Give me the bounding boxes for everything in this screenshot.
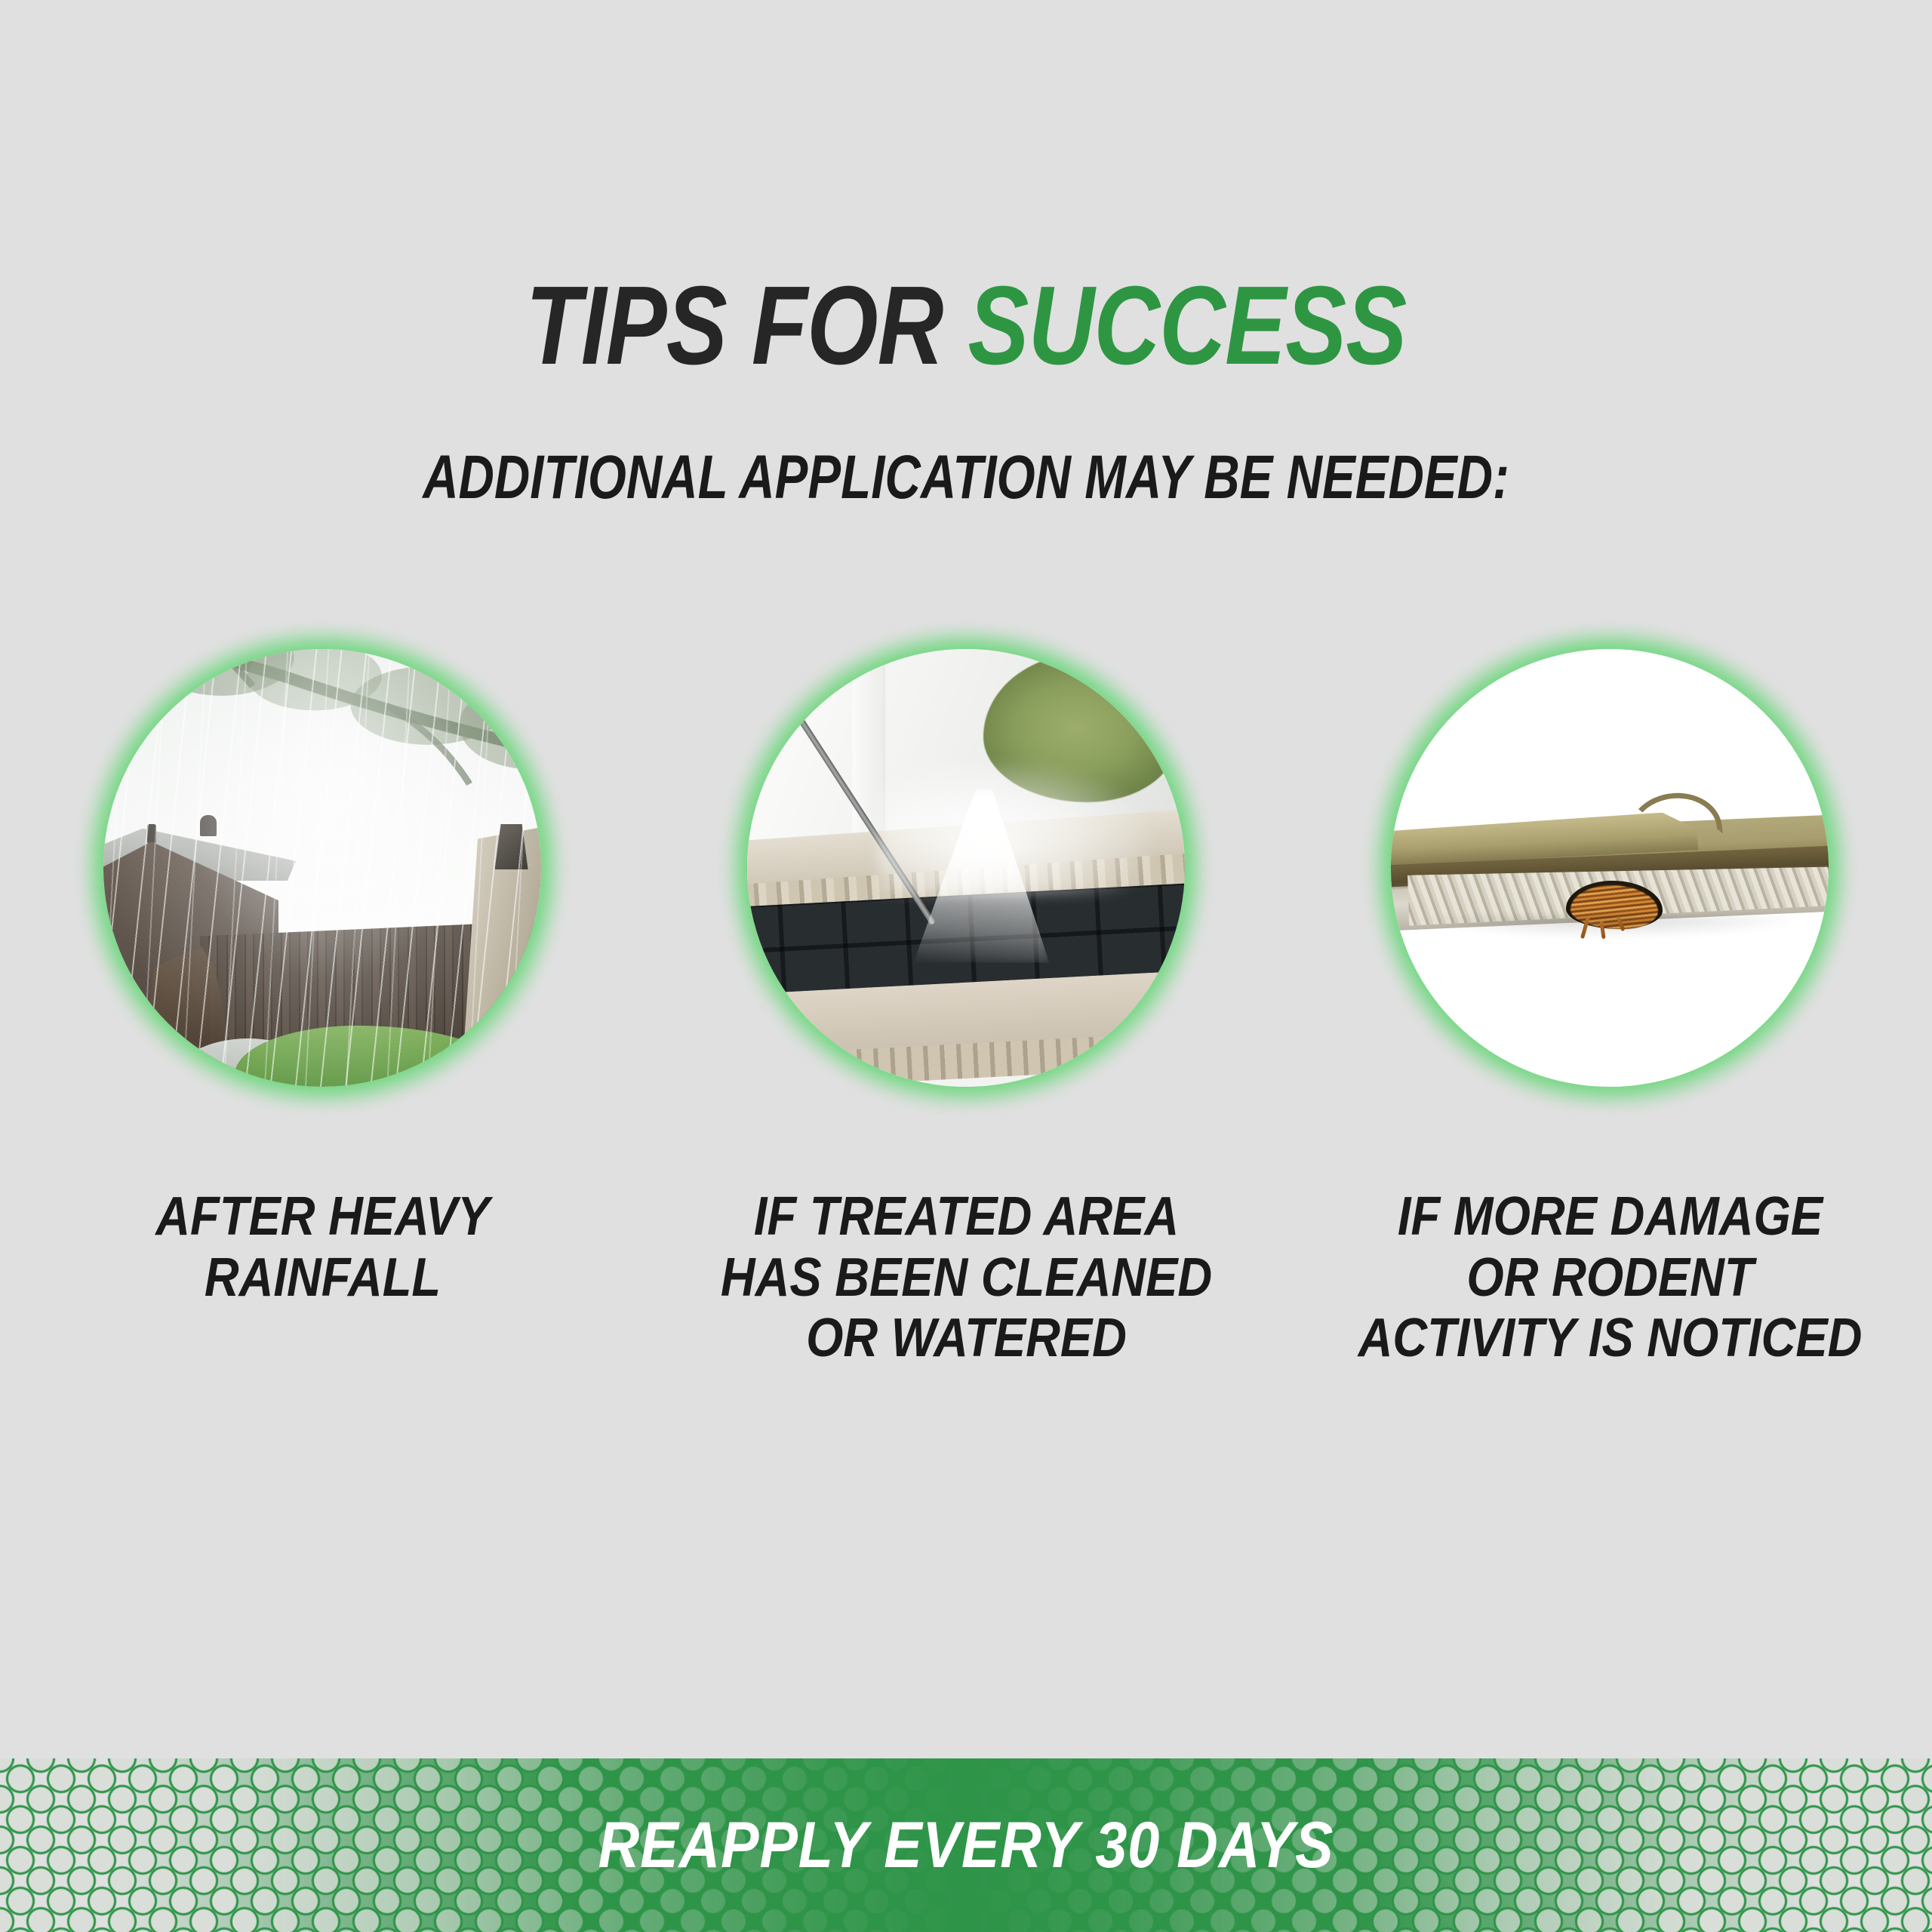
- caption-line: RAINFALL: [39, 1247, 606, 1309]
- page-title: TIPS FOR SUCCESS: [174, 270, 1758, 382]
- caption-line: IF TREATED AREA: [683, 1186, 1250, 1247]
- water-mist: [878, 763, 1150, 894]
- caption-damage: IF MORE DAMAGE OR RODENT ACTIVITY IS NOT…: [1327, 1186, 1894, 1369]
- pressure-washing-stone-steps-photo: [747, 649, 1185, 1087]
- caption-line: IF MORE DAMAGE: [1327, 1186, 1894, 1247]
- caption-line: AFTER HEAVY: [39, 1186, 606, 1247]
- page-title-accent: SUCCESS: [968, 263, 1406, 388]
- rodent-chewed-cable-photo: [1391, 649, 1829, 1087]
- caption-line: OR RODENT: [1327, 1247, 1894, 1309]
- tips-card-row: [0, 619, 1932, 1147]
- tips-caption-row: AFTER HEAVY RAINFALL IF TREATED AREA HAS…: [0, 1186, 1932, 1369]
- reapply-banner: REAPPLY EVERY 30 DAYS: [0, 1758, 1932, 1932]
- rain-haze-overlay: [103, 649, 541, 1087]
- photo-glow-ring-3: [1361, 619, 1859, 1117]
- tip-card-cleaned: [645, 619, 1288, 1147]
- reapply-banner-text: REAPPLY EVERY 30 DAYS: [116, 1758, 1817, 1932]
- caption-rainfall: AFTER HEAVY RAINFALL: [39, 1186, 606, 1369]
- page-title-primary: TIPS FOR: [526, 263, 968, 388]
- tip-card-rainfall: [1, 619, 645, 1147]
- caption-line: HAS BEEN CLEANED: [683, 1247, 1250, 1309]
- page-subtitle: ADDITIONAL APPLICATION MAY BE NEEDED:: [193, 447, 1739, 509]
- caption-cleaned: IF TREATED AREA HAS BEEN CLEANED OR WATE…: [683, 1186, 1250, 1369]
- heavy-rainfall-backyard-photo: [103, 649, 541, 1087]
- photo-glow-ring-2: [717, 619, 1215, 1117]
- caption-line: ACTIVITY IS NOTICED: [1327, 1308, 1894, 1369]
- tip-card-damage: [1288, 619, 1932, 1147]
- cable-drop-shadow: [1417, 916, 1802, 938]
- photo-glow-ring-1: [73, 619, 571, 1117]
- caption-line: OR WATERED: [683, 1308, 1250, 1369]
- poster-canvas: TIPS FOR SUCCESS ADDITIONAL APPLICATION …: [0, 0, 1932, 1932]
